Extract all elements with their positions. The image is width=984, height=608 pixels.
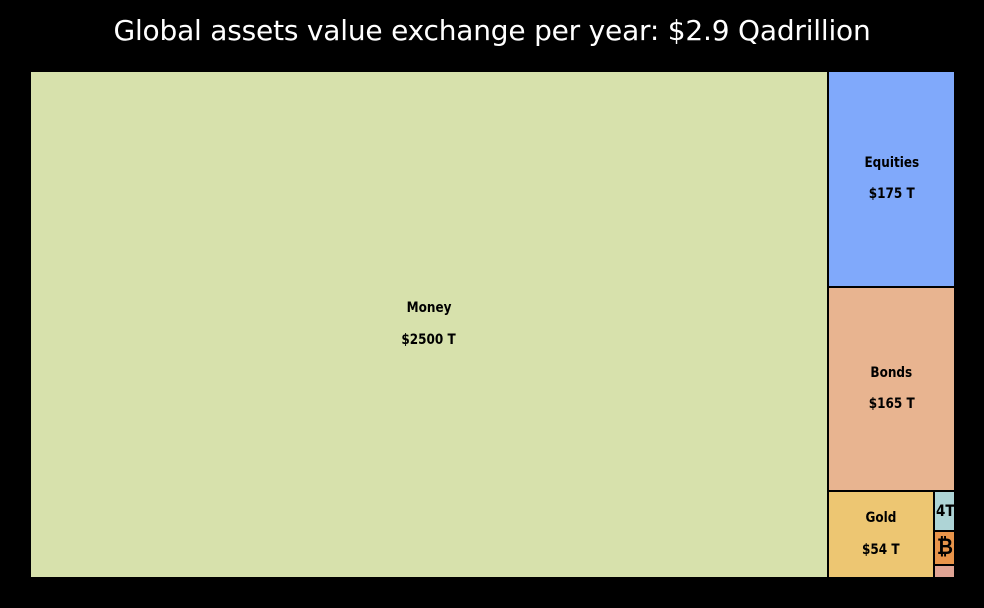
equities-cell[interactable]: Equities$175 T	[828, 71, 955, 287]
bonds-cell[interactable]: Bonds$165 T	[828, 287, 955, 491]
page-title: Global assets value exchange per year: $…	[0, 14, 984, 47]
bitcoin-cell[interactable]: ₿	[934, 531, 955, 565]
treemap-plot-area: Money$2500 TEquities$175 TBonds$165 TGol…	[30, 71, 955, 578]
money-cell[interactable]: Money$2500 T	[30, 71, 828, 578]
treemap-cell-label: Equities	[864, 155, 919, 173]
treemap-figure: Global assets value exchange per year: $…	[0, 0, 984, 608]
treemap-cell-label: ₿	[936, 534, 952, 562]
treemap-cell-label: Bonds	[871, 365, 913, 383]
treemap-cell-value: $165 T	[869, 396, 915, 414]
gold-cell[interactable]: Gold$54 T	[828, 491, 934, 578]
treemap-cell-value: $54 T	[862, 542, 900, 560]
treemap-cell-value: $2500 T	[402, 332, 456, 350]
treemap-cell-value: $175 T	[869, 186, 915, 204]
treemap-cell-label: 4T	[936, 501, 955, 521]
other-cell[interactable]	[934, 565, 955, 578]
treemap-cell-label: Gold	[866, 510, 897, 528]
treemap-cell-label: Money	[407, 300, 452, 318]
silver-cell[interactable]: 4T	[934, 491, 955, 531]
